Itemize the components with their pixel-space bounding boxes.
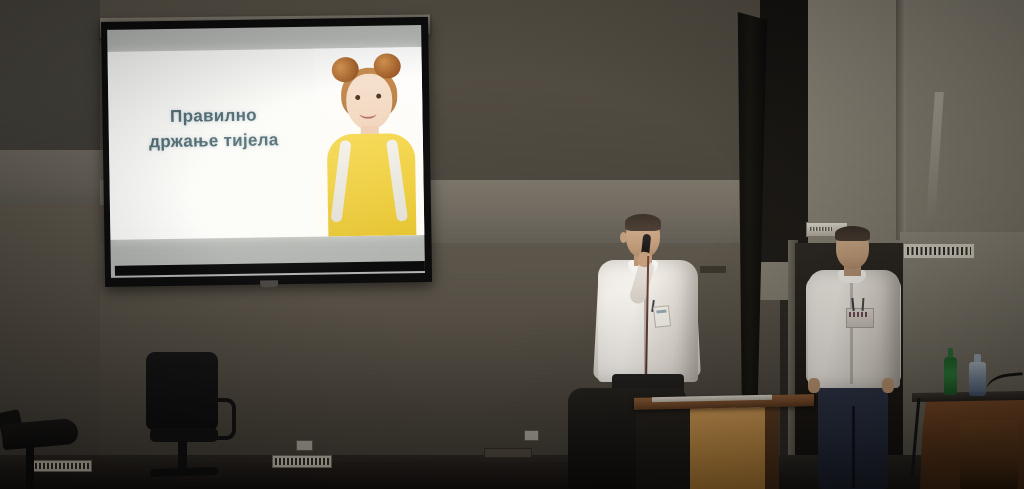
lecture-hall-photo: Правилно држање тијела	[0, 0, 1024, 489]
chair-backrest	[146, 352, 218, 430]
slide-title-line2: држање тијела	[125, 127, 303, 154]
office-chair-left[interactable]	[138, 352, 234, 489]
podium-side-panel	[765, 405, 779, 489]
presenter-with-microphone	[598, 216, 703, 416]
screen-surface: Правилно држање тијела	[107, 25, 425, 278]
presenter1-ear	[620, 232, 627, 243]
presenter2-hand-right	[882, 378, 894, 393]
secondary-chair-post	[26, 445, 34, 489]
pull-down-projection-screen[interactable]: Правилно држање тијела	[101, 17, 432, 287]
wall-seam	[896, 0, 906, 240]
presenter1-id-badge	[653, 305, 671, 328]
green-bottle[interactable]	[944, 357, 957, 395]
wall-air-vent-small	[700, 266, 726, 273]
podium-shadow	[636, 406, 692, 489]
slide-title-line1: Правилно	[170, 106, 257, 126]
slide-title: Правилно држање тијела	[124, 103, 303, 155]
wooden-podium	[690, 406, 765, 489]
presenter2-hand-left	[808, 378, 820, 393]
dark-wall-recess	[760, 0, 808, 262]
chair-base	[150, 467, 218, 477]
presenter2-white-coat	[808, 270, 900, 388]
girl-face	[346, 73, 393, 130]
wall-air-vent-low-center	[272, 455, 332, 468]
secondary-chair-seat	[1, 418, 79, 451]
wall-band-left	[0, 150, 108, 210]
girl-eye-left	[355, 95, 360, 100]
power-outlet-secondary	[524, 430, 539, 441]
equipment-under-table	[960, 420, 1018, 489]
second-presenter	[806, 228, 906, 489]
screen-pull-tab[interactable]	[260, 280, 278, 287]
presenter2-chest-pocket	[846, 308, 874, 328]
presenter2-hair	[835, 226, 870, 241]
presenter2-coat-placket	[850, 278, 853, 384]
screen-bottom-bar	[115, 261, 425, 276]
presentation-slide: Правилно држање тијела	[107, 47, 424, 240]
power-outlet	[296, 440, 313, 451]
wall-air-vent-right	[903, 243, 975, 259]
presenter1-hair	[625, 214, 661, 231]
presenter2-leg-split	[852, 406, 855, 488]
clear-water-bottle[interactable]	[969, 362, 986, 396]
girl-eye-right	[376, 94, 381, 99]
secondary-chair-left-edge[interactable]	[0, 415, 86, 489]
wall-air-vent-low-right	[484, 448, 532, 458]
smiling-girl-photo	[313, 47, 424, 237]
wall-panel-upper-left	[0, 0, 105, 160]
